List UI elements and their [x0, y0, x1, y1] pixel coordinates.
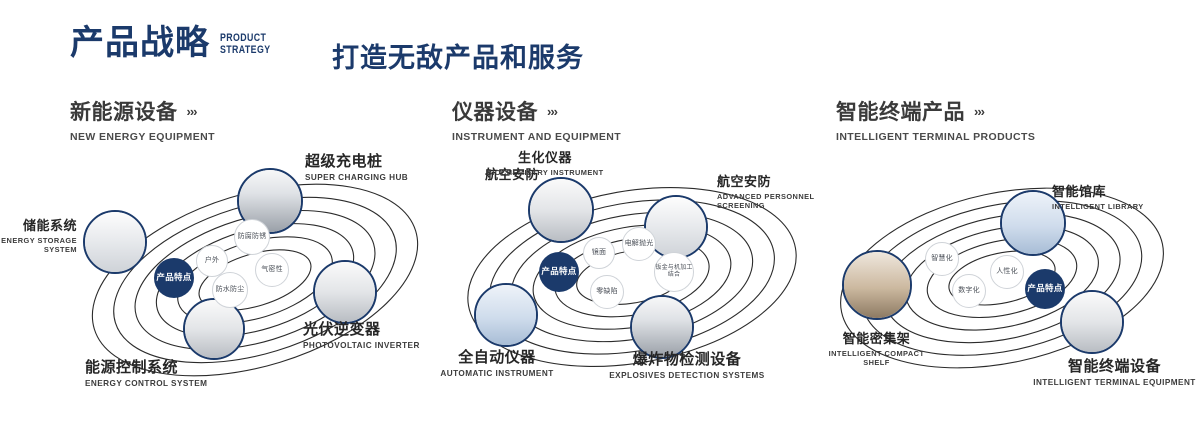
node-intelligent-terminal-equipment[interactable] — [1060, 290, 1124, 354]
label-en: EXPLOSIVES DETECTION SYSTEMS — [607, 371, 767, 380]
feature-bubble: 镜面 — [583, 237, 615, 269]
label-energy-control-system: 能源控制系统 ENERGY CONTROL SYSTEM — [85, 356, 207, 388]
label-en: SUPER CHARGING HUB — [305, 173, 408, 182]
brand-title: 产品战略 PRODUCT STRATEGY — [70, 26, 283, 60]
feature-label: 户外 — [205, 257, 219, 265]
feature-bubble: 智慧化 — [925, 242, 959, 276]
energy-control-system-photo — [185, 300, 243, 358]
label-en: ENERGY STORAGE SYSTEM — [0, 236, 77, 254]
section-title-cn: 新能源设备 ››› — [70, 96, 215, 126]
intelligent-terminal-equipment-photo — [1062, 292, 1122, 352]
section-title-en: NEW ENERGY EQUIPMENT — [70, 131, 215, 143]
feature-bubble: 数字化 — [952, 274, 986, 308]
feature-bubble: 防水防尘 — [212, 272, 248, 308]
chevron-right-icon: ››› — [547, 104, 557, 119]
intelligent-compact-shelf-photo — [844, 252, 910, 318]
section-title-en: INTELLIGENT TERMINAL PRODUCTS — [836, 131, 1035, 143]
section-title-text: 新能源设备 — [70, 96, 178, 126]
brand-title-en: PRODUCT STRATEGY — [220, 33, 270, 57]
label-cn: 超级充电桩 — [305, 150, 408, 171]
node-photovoltaic-inverter[interactable] — [313, 260, 377, 324]
section-title-en: INSTRUMENT AND EQUIPMENT — [452, 131, 621, 143]
chevron-right-icon: ››› — [974, 104, 984, 119]
feature-bubble: 钣金与机加工结合 — [654, 252, 694, 292]
cluster-new-energy: 产品特点 户外 防腐防锈 防水防尘 气密性 储能系统 ENERGY STORAG… — [55, 155, 455, 390]
cluster-intelligent-terminal: 产品特点 智慧化 数字化 人性化 智能馆库 INTELLIGENT LIBRAR… — [812, 160, 1200, 390]
node-energy-control-system[interactable] — [183, 298, 245, 360]
section-header-instrument: 仪器设备 ››› INSTRUMENT AND EQUIPMENT — [452, 96, 621, 143]
label-cn: 储能系统 — [0, 215, 77, 234]
section-title-cn: 仪器设备 ››› — [452, 96, 621, 126]
feature-label: 电解抛光 — [625, 240, 654, 248]
label-explosives-detection-systems: 爆炸物检测设备 EXPLOSIVES DETECTION SYSTEMS — [607, 348, 767, 380]
cluster-instrument: 产品特点 镜面 电解抛光 零缺陷 钣金与机加工结合 航空安防 生化仪器 BIOC… — [432, 155, 832, 390]
label-cn: 光伏逆变器 — [303, 318, 420, 339]
product-features-badge-label: 产品特点 — [156, 273, 191, 283]
label-photovoltaic-inverter: 光伏逆变器 PHOTOVOLTAIC INVERTER — [303, 318, 420, 350]
label-en: INTELLIGENT LIBRARY — [1052, 202, 1144, 211]
feature-bubble: 零缺陷 — [590, 275, 624, 309]
label-cn: 全自动仪器 — [427, 346, 567, 367]
infographic-page: 产品战略 PRODUCT STRATEGY 打造无敌产品和服务 新能源设备 ››… — [0, 0, 1200, 422]
label-intelligent-library: 智能馆库 INTELLIGENT LIBRARY — [1052, 181, 1144, 211]
label-cn: 航空安防 — [717, 171, 827, 190]
feature-label: 钣金与机加工结合 — [655, 265, 693, 279]
feature-bubble: 人性化 — [990, 255, 1024, 289]
feature-label: 防水防尘 — [216, 286, 245, 294]
label-en: INTELLIGENT COMPACT SHELF — [819, 349, 934, 367]
label-en: AUTOMATIC INSTRUMENT — [427, 369, 567, 378]
feature-bubble: 电解抛光 — [622, 227, 656, 261]
node-biochemistry-instrument[interactable] — [528, 177, 594, 243]
brand-title-cn: 产品战略 — [70, 26, 210, 60]
label-cn: 爆炸物检测设备 — [607, 348, 767, 369]
label-automatic-instrument: 全自动仪器 AUTOMATIC INSTRUMENT — [427, 346, 567, 378]
label-en: PHOTOVOLTAIC INVERTER — [303, 341, 420, 350]
energy-storage-cabinet-photo — [85, 212, 145, 272]
product-features-badge-label: 产品特点 — [541, 267, 576, 277]
section-header-new-energy: 新能源设备 ››› NEW ENERGY EQUIPMENT — [70, 96, 215, 143]
section-title-cn: 智能终端产品 ››› — [836, 96, 1035, 126]
label-super-charging-hub: 超级充电桩 SUPER CHARGING HUB — [305, 150, 408, 182]
node-automatic-instrument[interactable] — [474, 283, 538, 347]
label-cn: 生化仪器 — [450, 147, 640, 166]
feature-label: 防腐防锈 — [238, 233, 267, 241]
label-en: INTELLIGENT TERMINAL EQUIPMENT — [1027, 378, 1200, 387]
feature-label: 人性化 — [996, 268, 1018, 276]
node-intelligent-compact-shelf[interactable] — [842, 250, 912, 320]
label-cn: 能源控制系统 — [85, 356, 207, 377]
headline: 打造无敌产品和服务 — [332, 36, 584, 75]
product-features-badge-label: 产品特点 — [1027, 284, 1062, 294]
section-title-text: 智能终端产品 — [836, 96, 965, 126]
feature-label: 气密性 — [261, 266, 283, 274]
label-advanced-personnel-screening: 航空安防 ADVANCED PERSONNEL SCREENING — [717, 171, 827, 210]
label-cn: 智能密集架 — [819, 328, 934, 347]
label-intelligent-compact-shelf: 智能密集架 INTELLIGENT COMPACT SHELF — [819, 328, 934, 367]
product-features-badge: 产品特点 — [540, 253, 578, 291]
brand-title-en-line2: STRATEGY — [220, 45, 270, 57]
biochemistry-instrument-photo — [530, 179, 592, 241]
label-en: ENERGY CONTROL SYSTEM — [85, 379, 207, 388]
feature-label: 镜面 — [592, 249, 606, 257]
chevron-right-icon: ››› — [187, 104, 197, 119]
feature-label: 数字化 — [958, 287, 980, 295]
feature-label: 零缺陷 — [596, 288, 618, 296]
product-features-badge: 产品特点 — [155, 259, 193, 297]
section-title-text: 仪器设备 — [452, 96, 538, 126]
label-cn: 智能终端设备 — [1027, 355, 1200, 376]
label-en: ADVANCED PERSONNEL SCREENING — [717, 192, 827, 210]
feature-label: 智慧化 — [931, 255, 953, 263]
section-header-intelligent-terminal: 智能终端产品 ››› INTELLIGENT TERMINAL PRODUCTS — [836, 96, 1035, 143]
label-en: BIOCHEMISTRY INSTRUMENT — [450, 168, 640, 177]
product-features-badge: 产品特点 — [1026, 270, 1064, 308]
photovoltaic-inverter-photo — [315, 262, 375, 322]
label-energy-storage-system: 储能系统 ENERGY STORAGE SYSTEM — [0, 215, 77, 254]
feature-bubble: 防腐防锈 — [234, 219, 270, 255]
label-cn: 智能馆库 — [1052, 181, 1144, 200]
label-intelligent-terminal-equipment: 智能终端设备 INTELLIGENT TERMINAL EQUIPMENT — [1027, 355, 1200, 387]
node-energy-storage-system[interactable] — [83, 210, 147, 274]
feature-bubble: 气密性 — [255, 253, 289, 287]
label-biochemistry-instrument: 生化仪器 BIOCHEMISTRY INSTRUMENT — [450, 147, 640, 177]
automatic-instrument-photo — [476, 285, 536, 345]
